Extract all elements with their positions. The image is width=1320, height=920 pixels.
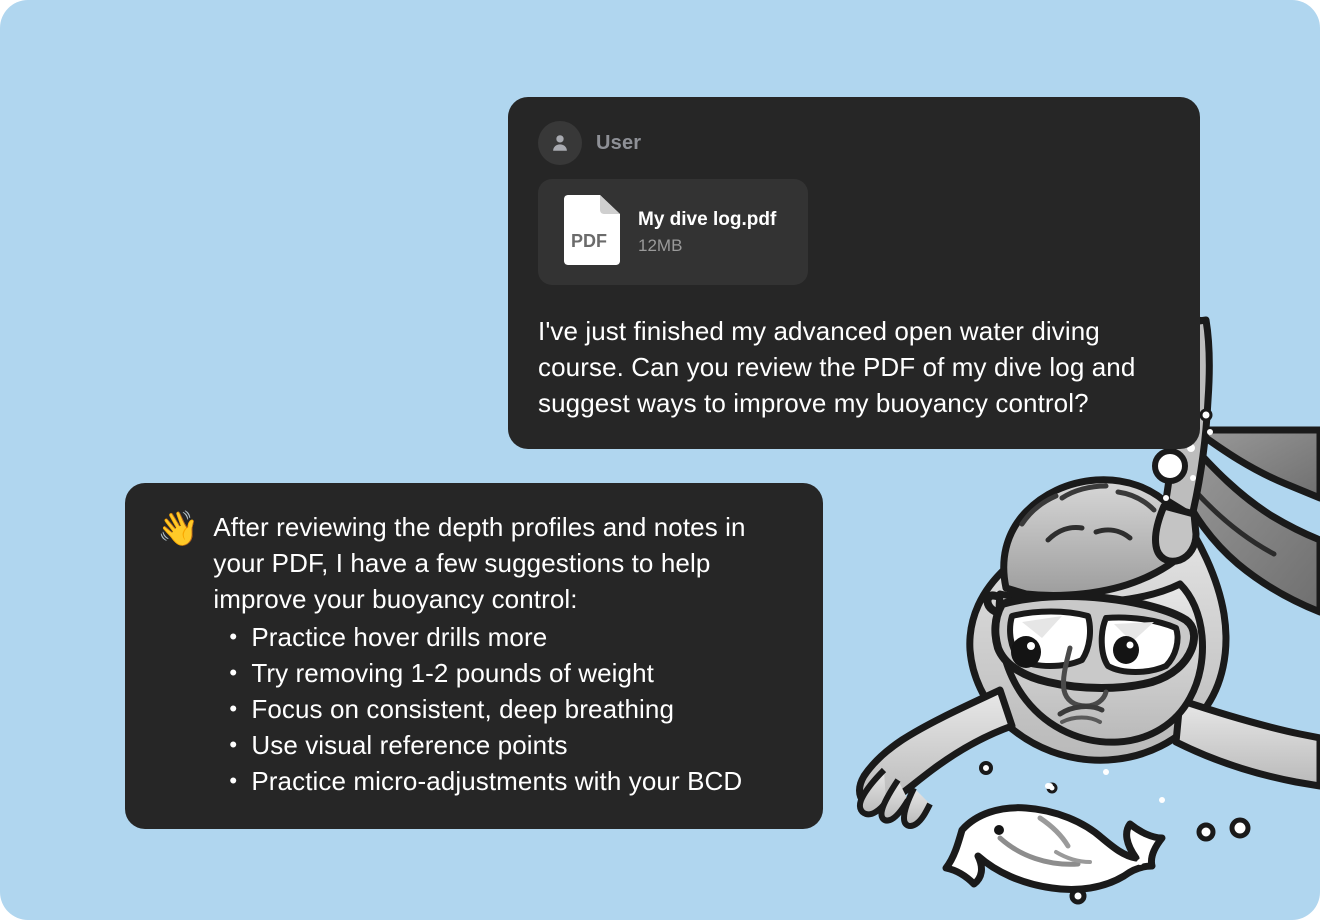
waving-hand-icon: 👋 (157, 511, 199, 799)
svg-text:PDF: PDF (571, 231, 607, 251)
avatar (538, 121, 582, 165)
user-message-text: I've just finished my advanced open wate… (538, 313, 1170, 421)
fish-illustration (946, 808, 1162, 890)
user-message-bubble: User PDF My dive log.pdf 12MB I've just … (508, 97, 1200, 449)
user-header: User (538, 121, 1170, 165)
list-item: Try removing 1-2 pounds of weight (251, 655, 793, 691)
attachment-file-name: My dive log.pdf (638, 209, 776, 231)
attachment-card[interactable]: PDF My dive log.pdf 12MB (538, 179, 808, 285)
list-item: Focus on consistent, deep breathing (251, 691, 793, 727)
user-name: User (596, 132, 641, 155)
assistant-message-bubble: 👋 After reviewing the depth profiles and… (125, 483, 823, 829)
suggestion-list: Practice hover drills more Try removing … (213, 619, 793, 799)
attachment-meta: My dive log.pdf 12MB (638, 209, 776, 256)
list-item: Practice micro-adjustments with your BCD (251, 763, 793, 799)
list-item: Practice hover drills more (251, 619, 793, 655)
attachment-file-size: 12MB (638, 236, 776, 256)
assistant-content: After reviewing the depth profiles and n… (213, 509, 793, 799)
list-item: Use visual reference points (251, 727, 793, 763)
person-icon (549, 132, 571, 154)
bubble-cluster (981, 384, 1248, 902)
assistant-body: 👋 After reviewing the depth profiles and… (157, 509, 793, 799)
assistant-intro-text: After reviewing the depth profiles and n… (213, 509, 793, 617)
pdf-file-icon: PDF (558, 195, 620, 269)
page-root: User PDF My dive log.pdf 12MB I've just … (0, 0, 1320, 920)
